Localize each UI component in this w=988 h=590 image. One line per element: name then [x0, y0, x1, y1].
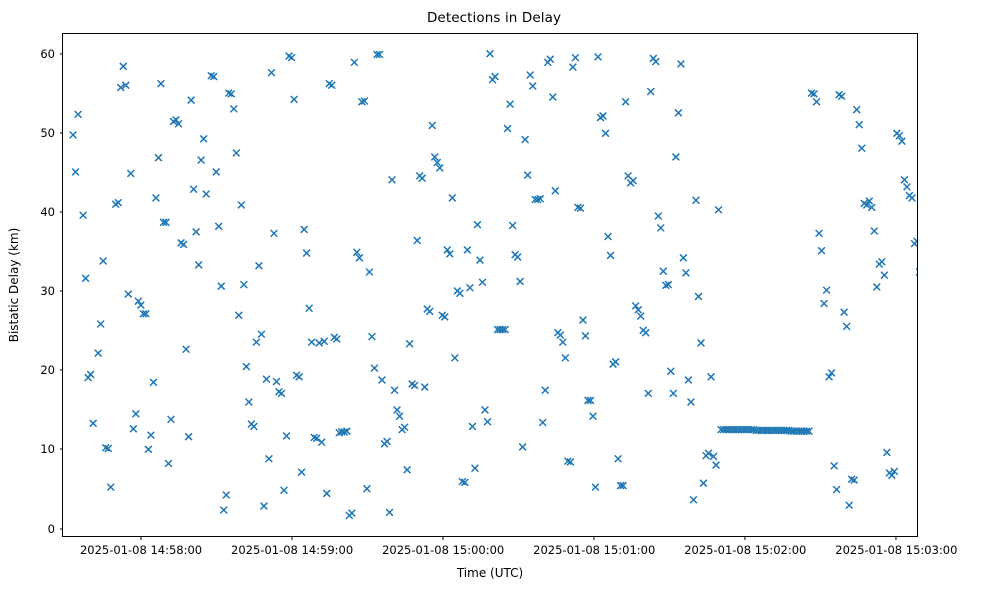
scatter-marker: [572, 54, 579, 61]
scatter-marker: [256, 262, 263, 269]
scatter-marker: [366, 269, 373, 276]
scatter-marker: [833, 486, 840, 493]
scatter-marker: [193, 228, 200, 235]
scatter-marker: [158, 80, 165, 87]
scatter-marker: [230, 105, 237, 112]
scatter-marker: [474, 221, 481, 228]
scatter-marker: [660, 268, 667, 275]
scatter-marker: [645, 390, 652, 397]
scatter-marker: [467, 284, 474, 291]
scatter-marker: [823, 287, 830, 294]
scatter-marker: [215, 223, 222, 230]
scatter-marker: [404, 466, 411, 473]
x-axis-label: Time (UTC): [62, 566, 918, 580]
y-tick-label: 30: [40, 284, 63, 298]
scatter-marker: [82, 275, 89, 282]
scatter-marker: [190, 186, 197, 193]
scatter-marker: [296, 373, 303, 380]
scatter-marker: [348, 510, 355, 517]
scatter-marker: [482, 407, 489, 414]
scatter-marker: [615, 455, 622, 462]
scatter-marker: [188, 97, 195, 104]
scatter-marker: [547, 56, 554, 63]
scatter-marker: [235, 312, 242, 319]
scatter-marker: [168, 416, 175, 423]
scatter-marker: [316, 340, 323, 347]
scatter-marker: [371, 365, 378, 372]
scatter-marker: [605, 233, 612, 240]
scatter-marker: [323, 490, 330, 497]
scatter-marker: [291, 96, 298, 103]
scatter-marker: [195, 262, 202, 269]
scatter-marker: [183, 346, 190, 353]
y-tick-label: 10: [40, 442, 63, 456]
scatter-marker: [132, 410, 139, 417]
x-tick-label: 2025-01-08 14:58:00: [80, 536, 202, 557]
scatter-marker: [271, 230, 278, 237]
scatter-marker: [484, 418, 491, 425]
scatter-marker: [647, 88, 654, 95]
scatter-marker: [858, 145, 865, 152]
scatter-marker: [607, 252, 614, 259]
scatter-marker: [449, 195, 456, 202]
scatter-marker: [240, 281, 247, 288]
scatter-marker: [165, 460, 172, 467]
x-tick-label: 2025-01-08 15:00:00: [382, 536, 504, 557]
scatter-marker: [328, 82, 335, 89]
x-tick-label: 2025-01-08 15:01:00: [533, 536, 655, 557]
scatter-marker: [680, 254, 687, 261]
scatter-marker: [75, 111, 82, 118]
scatter-marker: [883, 449, 890, 456]
scatter-marker: [411, 382, 418, 389]
y-tick-label: 60: [40, 47, 63, 61]
scatter-plot-area: [63, 34, 917, 536]
scatter-marker: [429, 122, 436, 129]
scatter-marker: [251, 423, 258, 430]
scatter-marker: [818, 247, 825, 254]
scatter-marker: [715, 206, 722, 213]
scatter-marker: [90, 420, 97, 427]
scatter-marker: [253, 339, 260, 346]
scatter-marker: [369, 333, 376, 340]
scatter-marker: [569, 64, 576, 71]
scatter-marker: [150, 379, 157, 386]
scatter-marker: [80, 212, 87, 219]
scatter-marker: [220, 507, 227, 514]
scatter-marker: [318, 439, 325, 446]
scatter-marker: [831, 462, 838, 469]
scatter-marker: [148, 432, 155, 439]
scatter-marker: [816, 230, 823, 237]
y-tick-label: 40: [40, 205, 63, 219]
scatter-marker: [504, 125, 511, 132]
scatter-marker: [155, 154, 162, 161]
scatter-marker: [238, 202, 245, 209]
x-tick-label: 2025-01-08 15:03:00: [835, 536, 957, 557]
scatter-marker: [273, 378, 280, 385]
scatter-marker: [145, 446, 152, 453]
scatter-marker: [125, 291, 132, 298]
scatter-marker: [472, 465, 479, 472]
x-tick-label: 2025-01-08 15:02:00: [684, 536, 806, 557]
scatter-marker: [379, 377, 386, 384]
scatter-marker: [414, 237, 421, 244]
scatter-marker: [700, 480, 707, 487]
scatter-marker: [853, 106, 860, 113]
scatter-marker: [243, 363, 250, 370]
scatter-marker: [303, 250, 310, 257]
scatter-marker: [655, 213, 662, 220]
scatter-marker: [441, 314, 448, 321]
scatter-marker: [693, 197, 700, 204]
scatter-marker: [675, 109, 682, 116]
scatter-marker: [107, 484, 114, 491]
scatter-marker: [873, 284, 880, 291]
scatter-marker: [391, 387, 398, 394]
scatter-marker: [281, 487, 288, 494]
scatter-marker: [637, 313, 644, 320]
scatter-marker: [871, 228, 878, 235]
scatter-marker: [333, 336, 340, 343]
scatter-marker: [469, 423, 476, 430]
scatter-marker: [642, 329, 649, 336]
y-tick-label: 50: [40, 126, 63, 140]
scatter-marker: [278, 390, 285, 397]
scatter-marker: [283, 433, 290, 440]
scatter-marker: [901, 176, 908, 183]
scatter-marker: [841, 309, 848, 316]
scatter-marker: [384, 438, 391, 445]
scatter-marker: [288, 54, 295, 61]
scatter-marker: [881, 272, 888, 279]
scatter-marker: [509, 222, 516, 229]
scatter-marker: [301, 226, 308, 233]
scatter-marker: [519, 444, 526, 451]
scatter-marker: [245, 399, 252, 406]
scatter-marker: [595, 53, 602, 60]
scatter-marker: [213, 169, 220, 176]
scatter-marker: [529, 83, 536, 90]
scatter-marker: [539, 419, 546, 426]
scatter-marker: [198, 157, 205, 164]
scatter-marker: [582, 332, 589, 339]
scatter-marker: [522, 136, 529, 143]
scatter-marker: [592, 484, 599, 491]
scatter-marker: [670, 390, 677, 397]
scatter-marker: [258, 331, 265, 338]
scatter-marker: [492, 73, 499, 80]
scatter-marker: [218, 283, 225, 290]
scatter-marker: [477, 257, 484, 264]
scatter-marker: [672, 154, 679, 161]
scatter-marker: [622, 98, 629, 105]
scatter-marker: [878, 258, 885, 265]
scatter-marker: [115, 199, 122, 206]
scatter-marker: [394, 407, 401, 414]
scatter-marker: [185, 433, 192, 440]
scatter-marker: [389, 176, 396, 183]
scatter-marker: [406, 340, 413, 347]
scatter-marker: [426, 308, 433, 315]
scatter-marker: [401, 424, 408, 431]
y-tick-label: 20: [40, 363, 63, 377]
scatter-marker: [120, 63, 127, 70]
scatter-marker: [421, 384, 428, 391]
scatter-marker: [263, 376, 270, 383]
scatter-marker: [396, 413, 403, 420]
scatter-marker: [266, 455, 273, 462]
x-tick-label: 2025-01-08 14:59:00: [231, 536, 353, 557]
scatter-marker: [419, 175, 426, 182]
scatter-marker: [708, 373, 715, 380]
scatter-marker: [904, 183, 911, 190]
scatter-marker: [306, 305, 313, 312]
scatter-marker: [95, 350, 102, 357]
figure-canvas: Detections in Delay Bistatic Delay (km) …: [0, 0, 988, 590]
y-tick-label: 0: [48, 522, 63, 536]
scatter-marker: [479, 279, 486, 286]
scatter-marker: [688, 399, 695, 406]
scatter-marker: [507, 101, 514, 108]
scatter-marker: [72, 169, 79, 176]
scatter-marker: [233, 150, 240, 157]
scatter-marker: [695, 293, 702, 300]
scatter-marker: [612, 358, 619, 365]
scatter-marker: [100, 258, 107, 265]
scatter-marker: [813, 98, 820, 105]
scatter-marker: [678, 61, 685, 68]
scatter-marker: [559, 339, 566, 346]
scatter-marker: [838, 93, 845, 100]
scatter-marker: [127, 170, 134, 177]
scatter-marker: [308, 339, 315, 346]
scatter-marker: [298, 469, 305, 476]
scatter-marker: [200, 135, 207, 142]
scatter-marker: [909, 195, 916, 202]
scatter-marker: [549, 94, 556, 101]
scatter-marker: [690, 496, 697, 503]
scatter-marker: [562, 355, 569, 362]
scatter-marker: [667, 368, 674, 375]
scatter-marker: [580, 317, 587, 324]
scatter-marker: [527, 72, 534, 79]
plot-axes: 0102030405060 2025-01-08 14:58:002025-01…: [62, 33, 918, 537]
y-axis-label: Bistatic Delay (km): [7, 228, 21, 343]
scatter-marker: [456, 290, 463, 297]
scatter-marker: [487, 50, 494, 57]
scatter-marker: [351, 59, 358, 66]
scatter-marker: [916, 269, 917, 276]
scatter-marker: [843, 323, 850, 330]
scatter-marker: [914, 238, 917, 245]
scatter-marker: [856, 121, 863, 128]
scatter-marker: [657, 224, 664, 231]
scatter-marker: [600, 113, 607, 120]
scatter-marker: [203, 191, 210, 198]
scatter-marker: [451, 355, 458, 362]
scatter-marker: [153, 195, 160, 202]
scatter-marker: [223, 492, 230, 499]
scatter-marker: [514, 254, 521, 261]
scatter-marker: [180, 241, 187, 248]
scatter-marker: [552, 187, 559, 194]
scatter-marker: [652, 58, 659, 65]
scatter-marker: [590, 413, 597, 420]
scatter-marker: [602, 130, 609, 137]
scatter-marker: [821, 300, 828, 307]
scatter-marker: [268, 69, 275, 76]
scatter-marker: [87, 371, 94, 378]
chart-title: Detections in Delay: [0, 10, 988, 26]
scatter-marker: [713, 462, 720, 469]
scatter-marker: [557, 332, 564, 339]
scatter-marker: [386, 509, 393, 516]
scatter-marker: [130, 425, 137, 432]
scatter-marker: [464, 247, 471, 254]
scatter-marker: [517, 278, 524, 285]
scatter-marker: [846, 502, 853, 509]
scatter-marker: [698, 340, 705, 347]
scatter-marker: [321, 338, 328, 345]
scatter-marker: [364, 485, 371, 492]
scatter-marker: [70, 131, 77, 138]
scatter-marker: [97, 321, 104, 328]
scatter-marker: [542, 387, 549, 394]
scatter-marker: [524, 172, 531, 179]
scatter-marker: [630, 177, 637, 184]
scatter-marker: [683, 269, 690, 276]
scatter-series: [63, 34, 917, 536]
scatter-marker: [261, 503, 268, 510]
scatter-marker: [685, 377, 692, 384]
